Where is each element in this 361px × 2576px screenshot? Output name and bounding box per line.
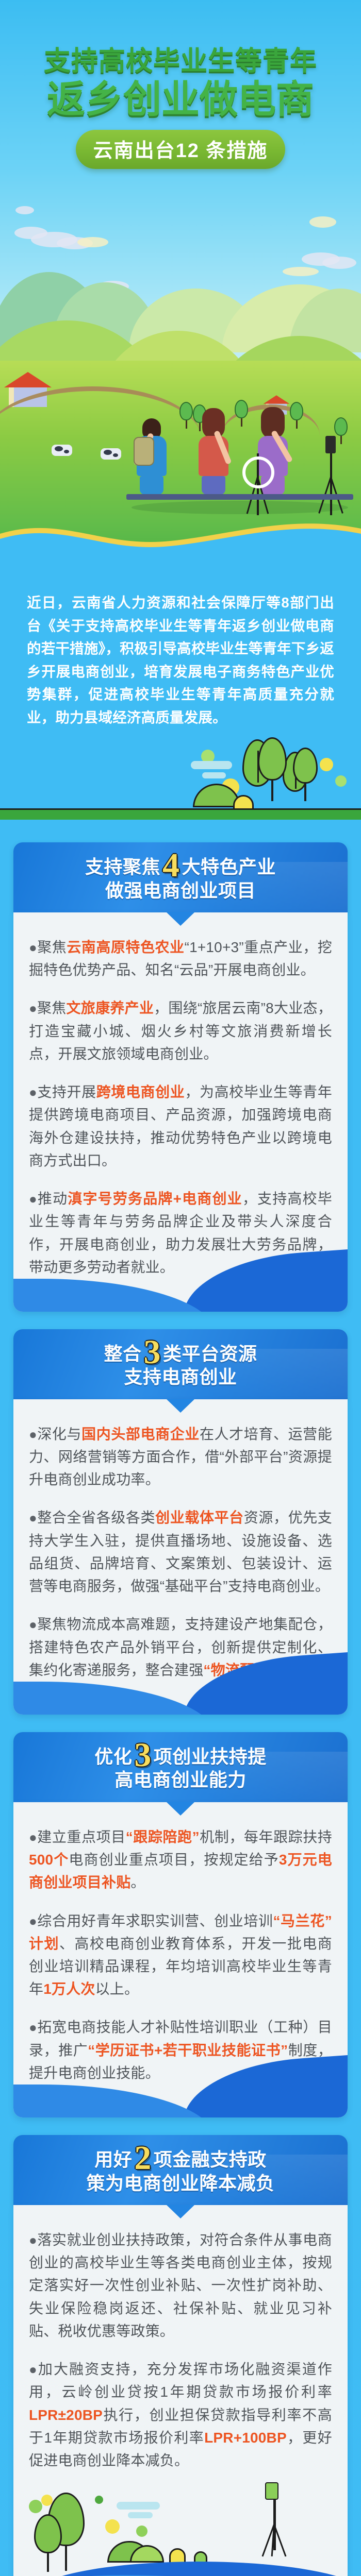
phone-icon [265,2482,278,2500]
infographic-poster: 支持高校毕业生等青年 返乡创业做电商 云南出台12 条措施 近日，云南省人力资源… [0,0,361,2576]
cloud-icon [15,206,34,214]
section-4-title-post: 项金融支持政 [154,2149,267,2170]
wave-divider [0,510,361,577]
section-3-title-post: 项创业扶持提 [154,1746,267,1767]
section-1-header: 支持聚焦4大特色产业 做强电商创业项目 [13,842,348,912]
bullet-item: ●聚焦文旅康养产业，围绕“旅居云南”8大业态，打造宝藏小城、烟火乡村等文旅消费新… [29,997,332,1065]
section-3: 优化3项创业扶持提 高电商创业能力 ●建立重点项目“跟踪陪跑”机制，每年跟踪扶持… [13,1732,348,2117]
cow-icon [101,448,121,460]
cow-icon [52,445,72,456]
poster-headline: 支持高校毕业生等青年 返乡创业做电商 云南出台12 条措施 [0,46,361,169]
section-2: 整合3类平台资源 支持电商创业 ●深化与国内头部电商企业在人才培育、运营能力、网… [13,1329,348,1715]
bullet-item: ●综合用好青年求职实训营、创业培训“马兰花”计划、高校电商创业教育体系，开发一批… [29,1910,332,2001]
closing-illustration [29,2487,332,2576]
dot-decor [105,2519,120,2534]
section-3-title-pre: 优化 [94,1746,132,1767]
tree-icon [258,737,287,801]
section-3-title: 优化3项创业扶持提 高电商创业能力 [28,1743,333,1792]
section-1-title-line2: 做强电商创业项目 [28,879,333,902]
section-4-header: 用好2项金融支持政 策为电商创业降本减负 [13,2135,348,2205]
bullet-item: ●聚焦云南高原特色农业“1+10+3”重点产业，挖掘特色优势产品、知名“云品”开… [29,936,332,981]
phone-tripod-icon [273,2494,276,2550]
dot-decor [29,2500,42,2513]
section-3-title-line2: 高电商创业能力 [28,1768,333,1791]
dot-decor [136,2526,147,2537]
bullet-item: ●整合全省各级各类创业载体平台资源，优先支持大学生入驻，提供直播场地、设施设备、… [29,1506,332,1598]
tree-icon [293,748,318,801]
backpack [134,437,154,466]
section-2-header: 整合3类平台资源 支持电商创业 [13,1329,348,1399]
bench [126,494,353,500]
cloud-decor [117,2502,160,2510]
bullet-dot-icon: ● [29,940,37,955]
bullet-dot-icon: ● [29,1510,37,1526]
cloud-icon [309,216,336,228]
section-4-body: ●落实就业创业扶持政策，对符合条件从事电商创业的高校毕业生等各类电商创业主体，按… [13,2205,348,2576]
sections-container: 支持聚焦4大特色产业 做强电商创业项目 ●聚焦云南高原特色农业“1+10+3”重… [0,842,361,2576]
section-2-title-pre: 整合 [104,1343,141,1364]
section-1-title: 支持聚焦4大特色产业 做强电商创业项目 [28,854,333,902]
bullet-dot-icon: ● [29,1913,37,1929]
cloud-icon [77,237,108,247]
ring-light-icon [242,456,274,488]
cloud-icon [322,257,356,269]
section-1-title-post: 大特色产业 [182,856,276,877]
bullet-dot-icon: ● [29,2020,37,2035]
phone-tripod-icon [330,438,332,515]
section-2-title-post: 类平台资源 [163,1343,257,1364]
section-4: 用好2项金融支持政 策为电商创业降本减负 ●落实就业创业扶持政策，对符合条件从事… [13,2135,348,2576]
bullet-item: ●深化与国内头部电商企业在人才培育、运营能力、网络营销等方面合作，借“外部平台”… [29,1423,332,1492]
leaf-decoration-strip [0,734,361,842]
bullet-item: ●聚焦物流成本高难题，支持建设产地集配仓，搭建特色农产品外销平台，创新提供定制化… [29,1613,332,1682]
bullet-item: ●加大融资支持，充分发挥市场化融资渠道作用，云岭创业贷按1年期贷款市场报价利率L… [29,2358,332,2472]
section-4-title: 用好2项金融支持政 策为电商创业降本减负 [28,2146,333,2195]
section-4-title-line2: 策为电商创业降本减负 [28,2172,333,2195]
bullet-dot-icon: ● [29,1001,37,1016]
section-3-header: 优化3项创业扶持提 高电商创业能力 [13,1732,348,1802]
cloud-decor [202,772,226,778]
bullet-item: ●建立重点项目“跟踪陪跑”机制，每年跟踪扶持500个电商创业重点项目，按规定给予… [29,1826,332,1894]
section-4-number: 2 [134,2146,152,2170]
headline-line-2: 返乡创业做电商 [0,78,361,120]
cloud-decor [128,2512,153,2518]
ground-line [0,808,361,820]
section-1-body: ●聚焦云南高原特色农业“1+10+3”重点产业，挖掘特色优势产品、知名“云品”开… [13,912,348,1312]
section-2-number: 3 [144,1341,161,1364]
bullet-dot-icon: ● [29,2232,37,2248]
section-2-title-line2: 支持电商创业 [28,1365,333,1388]
three-youths-livestreaming [132,381,353,495]
intro-block: 近日，云南省人力资源和社会保障厅等8部门出台《关于支持高校毕业生等青年返乡创业做… [0,577,361,734]
bullet-dot-icon: ● [29,1084,37,1100]
dot-decor [95,2496,103,2504]
hero-illustration: 支持高校毕业生等青年 返乡创业做电商 云南出台12 条措施 [0,0,361,577]
bullet-item: ●落实就业创业扶持政策，对符合条件从事电商创业的高校毕业生等各类电商创业主体，按… [29,2229,332,2343]
cloud-icon [283,267,319,276]
section-1-number: 4 [162,854,180,877]
section-2-title: 整合3类平台资源 支持电商创业 [28,1341,333,1389]
headline-pill: 云南出台12 条措施 [76,130,286,169]
section-4-title-pre: 用好 [94,2149,132,2170]
headline-line-1: 支持高校毕业生等青年 [0,46,361,76]
bullet-item: ●支持开展跨境电商创业，为高校毕业生等青年提供跨境电商项目、产品资源，加强跨境电… [29,1081,332,1172]
bullet-dot-icon: ● [29,1829,37,1845]
section-3-number: 3 [134,1743,152,1767]
bullet-item: ●推动滇字号劳务品牌+电商创业，支持高校毕业生等青年与劳务品牌企业及带头人深度合… [29,1188,332,1279]
bullet-dot-icon: ● [29,1191,38,1207]
bullet-dot-icon: ● [29,1427,37,1442]
section-1: 支持聚焦4大特色产业 做强电商创业项目 ●聚焦云南高原特色农业“1+10+3”重… [13,842,348,1312]
intro-paragraph: 近日，云南省人力资源和社会保障厅等8部门出台《关于支持高校毕业生等青年返乡创业做… [27,591,334,729]
section-3-body: ●建立重点项目“跟踪陪跑”机制，每年跟踪扶持500个电商创业重点项目，按规定给予… [13,1802,348,2117]
bullet-dot-icon: ● [29,2362,38,2377]
dot-decor [335,775,347,787]
bullet-item: ●拓宽电商技能人才补贴性培训职业（工种）目录，推广“学历证书+若干职业技能证书”… [29,2016,332,2084]
cloud-decor [191,761,232,769]
section-1-title-pre: 支持聚焦 [85,856,160,877]
person-red [199,408,228,495]
bullet-dot-icon: ● [29,1617,37,1632]
section-2-body: ●深化与国内头部电商企业在人才培育、运营能力、网络营销等方面合作，借“外部平台”… [13,1399,348,1715]
dot-decor [320,758,333,771]
